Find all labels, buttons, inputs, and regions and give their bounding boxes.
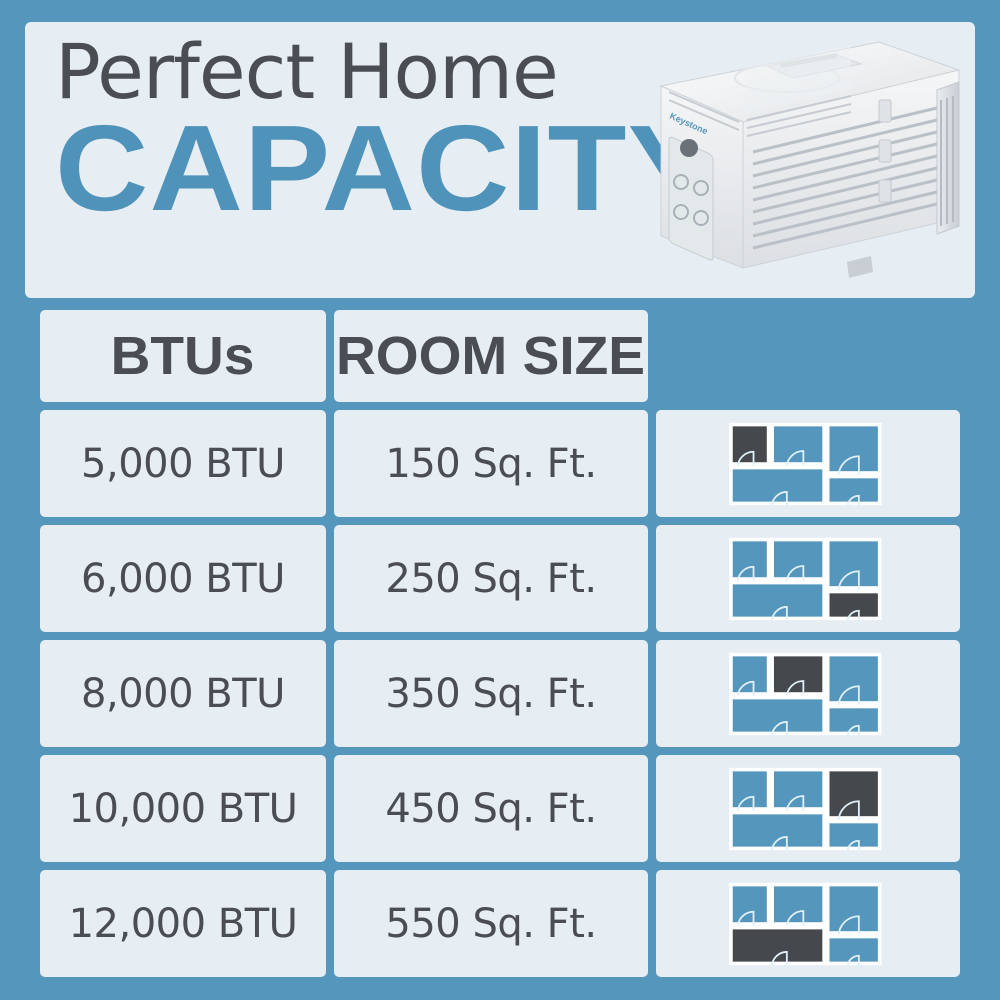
room-top-middle: [772, 769, 824, 812]
room-top-right: [828, 424, 880, 476]
cell-room-size: 350 Sq. Ft.: [334, 640, 648, 747]
room-bottom-right: [828, 476, 880, 506]
cell-room-size-value: 150 Sq. Ft.: [385, 441, 596, 487]
room-bottom-right: [828, 706, 880, 736]
cell-room-size-value: 350 Sq. Ft.: [385, 671, 596, 717]
cell-btus: 12,000 BTU: [40, 870, 326, 977]
cell-room-size: 550 Sq. Ft.: [334, 870, 648, 977]
cell-floor-plan: [656, 755, 960, 862]
cell-btus: 10,000 BTU: [40, 755, 326, 862]
page-title-line2: CAPACITY: [55, 112, 733, 224]
header-card: Perfect Home CAPACITY: [25, 22, 975, 298]
cell-room-size: 250 Sq. Ft.: [334, 525, 648, 632]
room-top-right: [828, 539, 880, 591]
room-bottom-right: [828, 936, 880, 966]
room-top-middle: [772, 424, 824, 467]
room-top-left: [731, 769, 769, 812]
cell-room-size: 450 Sq. Ft.: [334, 755, 648, 862]
cell-btus-value: 6,000 BTU: [81, 556, 285, 602]
room-bottom-right: [828, 821, 880, 851]
room-top-right: [828, 769, 880, 821]
column-header-room-size-label: ROOM SIZE: [336, 325, 645, 387]
control-panel: [669, 136, 713, 262]
table-row: 6,000 BTU250 Sq. Ft.: [40, 525, 960, 632]
cell-room-size-value: 550 Sq. Ft.: [385, 901, 596, 947]
cell-btus: 8,000 BTU: [40, 640, 326, 747]
cell-btus-value: 10,000 BTU: [69, 786, 298, 832]
table-header-row: BTUs ROOM SIZE: [40, 310, 960, 402]
room-bottom-left: [731, 582, 824, 621]
cell-floor-plan: [656, 870, 960, 977]
floor-plan: [718, 421, 898, 507]
table-row: 10,000 BTU450 Sq. Ft.: [40, 755, 960, 862]
cell-btus-value: 5,000 BTU: [81, 441, 285, 487]
column-header-btus: BTUs: [40, 310, 326, 402]
cell-floor-plan: [656, 410, 960, 517]
cell-btus-value: 8,000 BTU: [81, 671, 285, 717]
room-top-left: [731, 539, 769, 582]
column-header-room-size: ROOM SIZE: [334, 310, 648, 402]
room-bottom-left: [731, 927, 824, 966]
room-top-middle: [772, 884, 824, 927]
room-bottom-left: [731, 697, 824, 736]
room-top-middle: [772, 654, 824, 697]
column-header-btus-label: BTUs: [111, 325, 255, 387]
cell-btus: 5,000 BTU: [40, 410, 326, 517]
floor-plan: [718, 536, 898, 622]
room-top-right: [828, 654, 880, 706]
room-bottom-left: [731, 467, 824, 506]
table-row: 5,000 BTU150 Sq. Ft.: [40, 410, 960, 517]
room-top-left: [731, 884, 769, 927]
floor-plan-diagram: [718, 536, 898, 622]
table-row: 8,000 BTU350 Sq. Ft.: [40, 640, 960, 747]
room-top-middle: [772, 539, 824, 582]
infographic-page: Perfect Home CAPACITY: [0, 0, 1000, 1000]
cell-floor-plan: [656, 525, 960, 632]
cell-btus-value: 12,000 BTU: [69, 901, 298, 947]
title-block: Perfect Home CAPACITY: [55, 34, 695, 224]
floor-plan-diagram: [718, 651, 898, 737]
cell-btus: 6,000 BTU: [40, 525, 326, 632]
room-bottom-right: [828, 591, 880, 621]
air-conditioner-image: Keystone: [647, 30, 967, 285]
floor-plan-diagram: [718, 881, 898, 967]
capacity-table: BTUs ROOM SIZE 5,000 BTU150 Sq. Ft.6,000…: [40, 310, 960, 985]
cell-room-size-value: 450 Sq. Ft.: [385, 786, 596, 832]
room-top-left: [731, 654, 769, 697]
floor-plan: [718, 766, 898, 852]
page-title-line1: Perfect Home: [55, 34, 695, 110]
room-bottom-left: [731, 812, 824, 851]
cell-room-size: 150 Sq. Ft.: [334, 410, 648, 517]
room-top-right: [828, 884, 880, 936]
air-conditioner-illustration: Keystone: [647, 30, 967, 285]
cell-room-size-value: 250 Sq. Ft.: [385, 556, 596, 602]
room-top-left: [731, 424, 769, 467]
floor-plan: [718, 651, 898, 737]
table-body: 5,000 BTU150 Sq. Ft.6,000 BTU250 Sq. Ft.…: [40, 410, 960, 977]
floor-plan: [718, 881, 898, 967]
table-row: 12,000 BTU550 Sq. Ft.: [40, 870, 960, 977]
floor-plan-diagram: [718, 766, 898, 852]
cell-floor-plan: [656, 640, 960, 747]
column-header-floor-plan-spacer: [656, 310, 960, 402]
floor-plan-diagram: [718, 421, 898, 507]
